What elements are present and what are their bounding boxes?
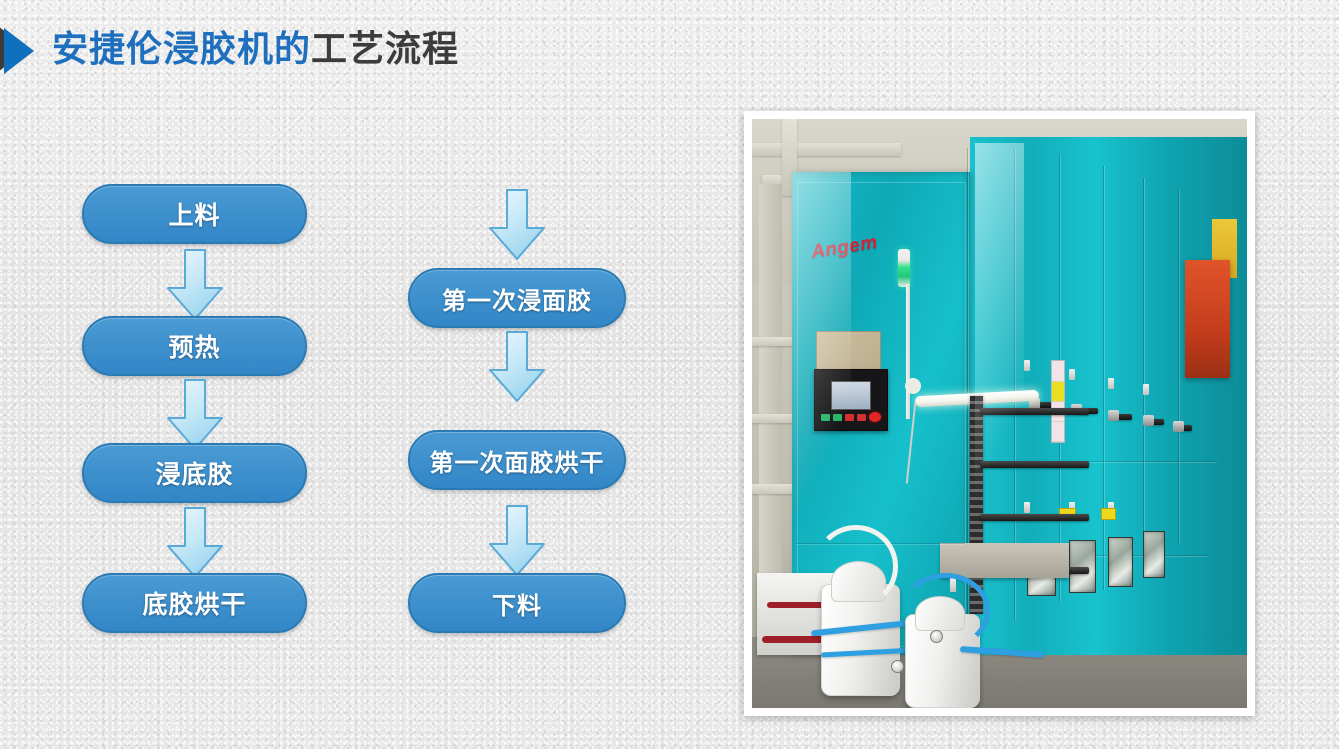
flow-node-label: 第一次面胶烘干 xyxy=(430,443,605,478)
hmi-button-row xyxy=(821,409,882,425)
flow-node-label: 第一次浸面胶 xyxy=(442,281,592,316)
process-flowchart: 上料 预热 xyxy=(0,130,700,670)
pressure-gauge xyxy=(891,660,904,673)
ceiling-beam xyxy=(752,143,901,156)
flow-arrow-down-6 xyxy=(486,504,548,578)
inspection-window xyxy=(1108,537,1133,587)
page-title-primary: 安捷伦浸胶机的 xyxy=(52,28,311,69)
panel-seam xyxy=(1103,166,1104,590)
hmi-alarm-button[interactable] xyxy=(857,414,866,421)
flow-node-diyicijinmianjiao[interactable]: 第一次浸面胶 xyxy=(408,268,626,328)
cabinet-latch xyxy=(1069,369,1075,380)
flow-node-label: 底胶烘干 xyxy=(142,585,246,621)
white-hose xyxy=(814,525,898,607)
cabinet-latch xyxy=(1024,502,1030,513)
panel-seam xyxy=(1178,190,1179,543)
warning-label xyxy=(1101,508,1116,520)
stack-light-icon xyxy=(898,249,910,287)
machine-photo: Angem xyxy=(752,119,1247,708)
cabinet-latch xyxy=(1024,360,1030,371)
hmi-stop-button[interactable] xyxy=(845,414,854,421)
slide-title-bar: 安捷伦浸胶机的工艺流程 xyxy=(0,18,459,80)
wall-pillar xyxy=(759,184,781,596)
flow-node-xialiao[interactable]: 下料 xyxy=(408,573,626,633)
cabinet-latch xyxy=(1108,378,1114,389)
inspection-window xyxy=(1143,531,1165,578)
conveyor-rung xyxy=(980,408,1089,415)
flow-node-jindijiao[interactable]: 浸底胶 xyxy=(82,443,307,503)
flow-node-shangliao[interactable]: 上料 xyxy=(82,184,307,244)
flow-node-label: 上料 xyxy=(168,196,220,232)
flow-arrow-down-5 xyxy=(486,330,548,404)
page-title-secondary: 工艺流程 xyxy=(311,28,459,69)
cabinet-latch xyxy=(1143,384,1149,395)
flow-node-label: 浸底胶 xyxy=(155,455,233,491)
blue-hose xyxy=(901,573,990,650)
flow-node-label: 预热 xyxy=(168,328,220,364)
page-title: 安捷伦浸胶机的工艺流程 xyxy=(52,31,459,67)
slide-canvas: 安捷伦浸胶机的工艺流程 上料 xyxy=(0,0,1339,749)
wall-rail xyxy=(752,414,797,423)
flow-arrow-down-2 xyxy=(164,378,226,452)
panel-seam xyxy=(1143,178,1144,567)
warning-label-strip xyxy=(1051,360,1065,442)
warning-label xyxy=(1052,382,1064,402)
loading-tray xyxy=(940,543,1069,578)
flow-arrow-down-1 xyxy=(164,248,226,322)
hmi-screen xyxy=(831,381,871,410)
cabinet-handle xyxy=(1148,419,1164,425)
flow-arrow-down-4 xyxy=(486,188,548,262)
flow-node-label: 下料 xyxy=(492,586,542,621)
hmi-start-button[interactable] xyxy=(821,414,830,421)
warning-label xyxy=(1052,361,1064,381)
triangle-front-icon xyxy=(4,28,34,74)
machine-photo-frame: Angem xyxy=(744,111,1255,716)
hmi-control-panel[interactable] xyxy=(814,369,888,431)
warning-label xyxy=(1052,422,1064,442)
conveyor-rung xyxy=(980,514,1089,521)
conveyor-rung xyxy=(980,461,1089,468)
background-red-cabinet xyxy=(1185,260,1230,378)
flow-arrow-down-3 xyxy=(164,506,226,580)
flow-node-diyicimianjiaohonggan[interactable]: 第一次面胶烘干 xyxy=(408,430,626,490)
emergency-stop-button[interactable] xyxy=(869,412,881,422)
hmi-run-button[interactable] xyxy=(833,414,842,421)
title-marker xyxy=(0,18,48,80)
light-pole xyxy=(906,284,910,419)
cabinet-handle xyxy=(1178,425,1192,431)
wall-rail xyxy=(752,484,797,493)
flow-node-dijiaohonggan[interactable]: 底胶烘干 xyxy=(82,573,307,633)
wall-rail xyxy=(752,337,797,346)
flow-node-yure[interactable]: 预热 xyxy=(82,316,307,376)
cabinet-handle xyxy=(1113,414,1132,420)
